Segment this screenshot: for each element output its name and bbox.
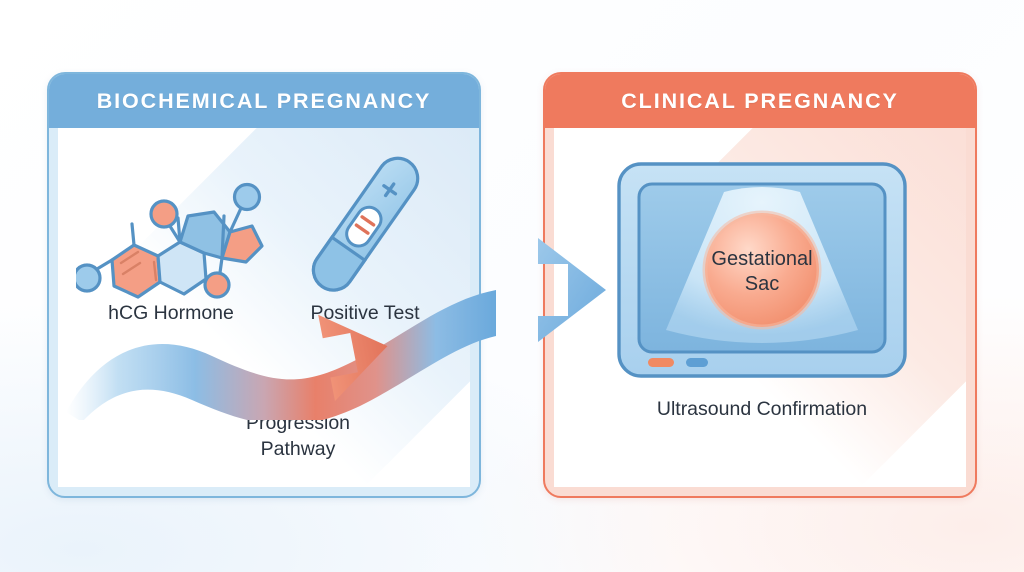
gestational-sac-label-line1: Gestational	[711, 248, 812, 270]
label-positive-test: Positive Test	[270, 300, 460, 326]
panel-clinical-pregnancy: CLINICAL PREGNANCY	[543, 72, 977, 498]
indicator-pill-blue	[686, 358, 708, 367]
infographic-canvas: BIOCHEMICAL PREGNANCY	[0, 0, 1024, 572]
ultrasound-monitor-icon: Gestational Sac	[612, 158, 912, 383]
panel-biochemical-pregnancy: BIOCHEMICAL PREGNANCY	[47, 72, 481, 498]
pregnancy-test-stick-icon	[270, 150, 460, 300]
label-hcg-hormone: hCG Hormone	[76, 300, 266, 326]
gestational-sac-label-line2: Sac	[745, 273, 779, 295]
panel-clinical-body: Gestational Sac Ultrasound Confirmation	[554, 128, 966, 487]
indicator-pill-orange	[648, 358, 674, 367]
panel-clinical-header: CLINICAL PREGNANCY	[545, 74, 975, 128]
hcg-molecule-icon	[76, 150, 266, 300]
panel-biochemical-header: BIOCHEMICAL PREGNANCY	[49, 74, 479, 128]
label-ultrasound-confirmation: Ultrasound Confirmation	[564, 396, 960, 422]
panel-biochemical-body: hCG Hormone Positive Test Progression Pa…	[58, 128, 470, 487]
label-progression-pathway: Progression Pathway	[183, 410, 413, 462]
